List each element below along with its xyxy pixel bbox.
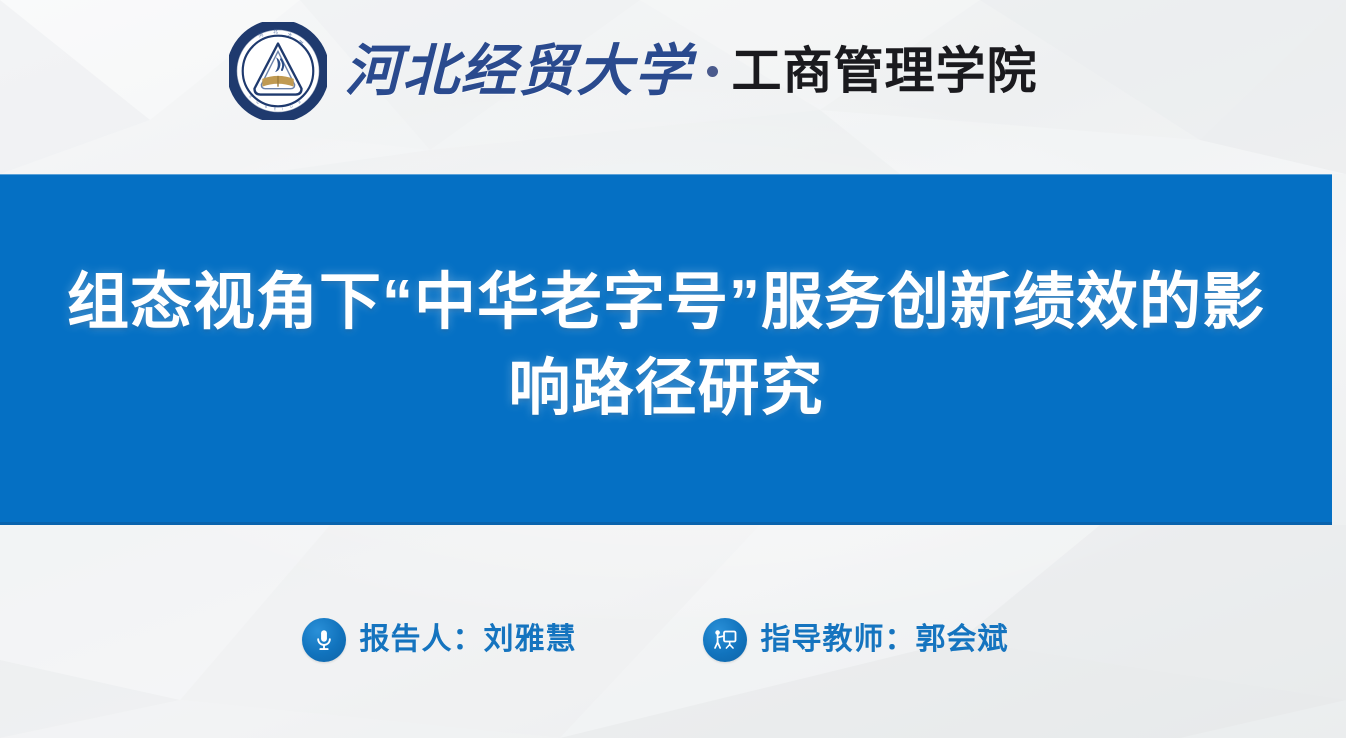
page-title: 组态视角下“中华老字号”服务创新绩效的影响路径研究 [46,260,1286,431]
title-banner: 组态视角下“中华老字号”服务创新绩效的影响路径研究 [0,174,1332,525]
credit-advisor-label: 指导教师：郭会斌 [761,625,1009,655]
university-name: 河北经贸大学 [345,43,693,99]
credit-presenter: 报告人：刘雅慧 [302,618,577,662]
college-name: 工商管理学院 [732,46,1038,96]
svg-text:北: 北 [273,28,278,35]
slide-header: 河 北 大 学 H E B E I U N [0,0,1346,174]
title-slide: 河 北 大 学 H E B E I U N [0,0,1346,738]
microphone-icon [302,618,346,662]
presenter-board-icon [703,618,747,662]
separator-dot-icon [707,66,718,77]
credits-row: 报告人：刘雅慧 指导教师：郭会斌 [0,618,1328,662]
credit-advisor: 指导教师：郭会斌 [703,618,1009,662]
university-crest-icon: 河 北 大 学 H E B E I U N [229,22,327,120]
credit-presenter-label: 报告人：刘雅慧 [360,625,577,655]
university-wordmark: 河北经贸大学 工商管理学院 [345,43,1038,99]
svg-text:E: E [273,107,276,111]
